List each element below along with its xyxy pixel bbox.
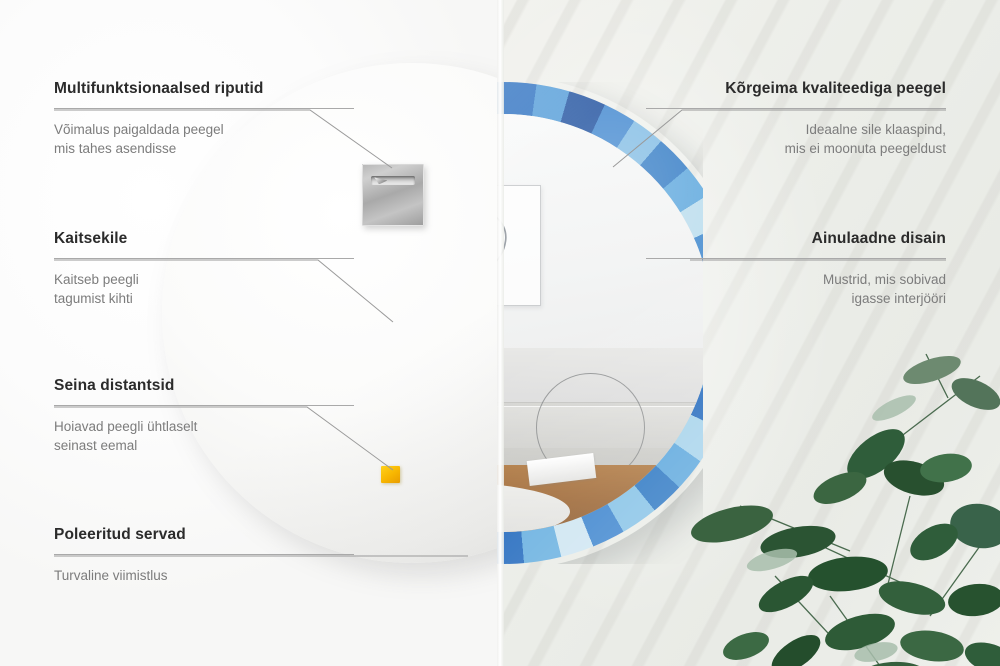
mirror-glass [497,114,703,532]
wall-spacer-block [381,466,400,483]
callout-title: Kaitsekile [54,230,354,249]
glass-gloss-overlay [497,114,703,532]
callout-seina-distantsid: Seina distantsid Hoiavad peegli ühtlasel… [54,377,354,455]
hanger-plate [362,164,424,226]
callout-rule [646,258,946,259]
callout-title: Multifunktsionaalsed riputid [54,80,354,99]
callout-poleeritud-servad: Poleeritud servad Turvaline viimistlus [54,526,354,585]
callout-body: Ideaalne sile klaaspind, mis ei moonuta … [646,120,946,158]
callout-rule [54,258,354,259]
callout-rule [54,108,354,109]
callout-title: Poleeritud servad [54,526,354,545]
infographic-canvas: Multifunktsionaalsed riputid Võimalus pa… [0,0,1000,666]
callout-multifunktsionaalsed-riputid: Multifunktsionaalsed riputid Võimalus pa… [54,80,354,158]
callout-body: Mustrid, mis sobivad igasse interjööri [646,270,946,308]
callout-title: Seina distantsid [54,377,354,396]
callout-korgeima-kvaliteediga-peegel: Kõrgeima kvaliteediga peegel Ideaalne si… [646,80,946,158]
callout-rule [54,405,354,406]
callout-title: Ainulaadne disain [646,230,946,249]
callout-rule [646,108,946,109]
callout-body: Hoiavad peegli ühtlaselt seinast eemal [54,417,354,455]
hanger-keyhole-slot [371,176,414,185]
callout-kaitsekile: Kaitsekile Kaitseb peegli tagumist kihti [54,230,354,308]
callout-body: Võimalus paigaldada peegel mis tahes ase… [54,120,354,158]
callout-rule [54,554,354,555]
callout-body: Kaitseb peegli tagumist kihti [54,270,354,308]
callout-title: Kõrgeima kvaliteediga peegel [646,80,946,99]
foliage-decoration [680,346,1000,666]
panel-seam [497,0,504,666]
callout-ainulaadne-disain: Ainulaadne disain Mustrid, mis sobivad i… [646,230,946,308]
callout-body: Turvaline viimistlus [54,566,354,585]
